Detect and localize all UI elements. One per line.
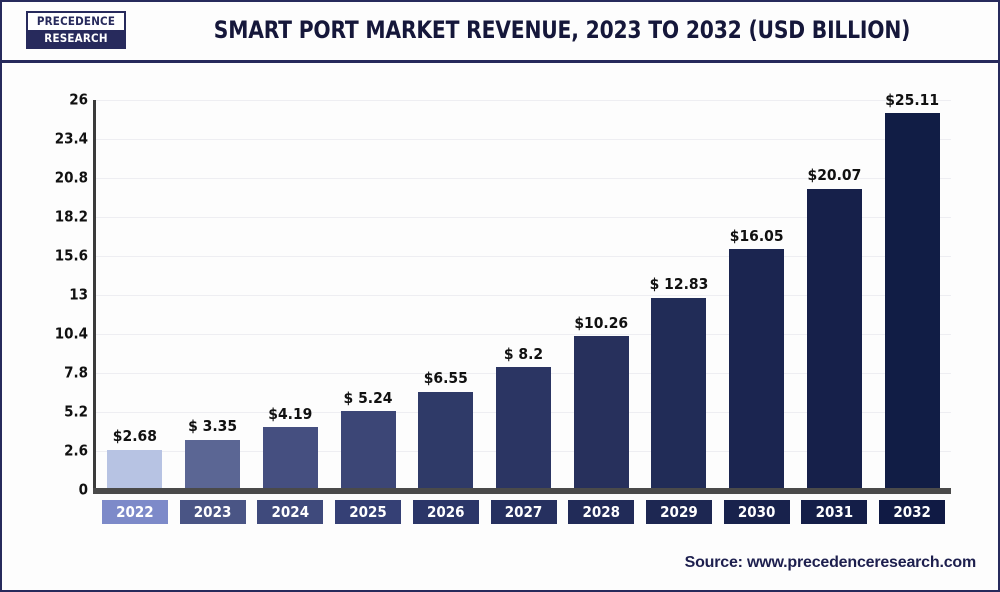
gridline xyxy=(96,139,951,140)
bars-canvas: $2.68$ 3.35$4.19$ 5.24$6.55$ 8.2$10.26$ … xyxy=(96,100,951,490)
bar-value-label: $ 8.2 xyxy=(504,347,543,363)
logo-line-research: RESEARCH xyxy=(28,30,124,47)
bar-2023[interactable]: $ 3.35 xyxy=(185,440,240,490)
bar-2027[interactable]: $ 8.2 xyxy=(496,367,551,490)
y-axis-tick-label: 26 xyxy=(30,93,88,108)
bar-value-label: $25.11 xyxy=(885,93,939,109)
bar-value-label: $ 3.35 xyxy=(188,419,237,435)
gridline xyxy=(96,100,951,101)
bar-value-label: $10.26 xyxy=(574,316,628,332)
x-axis-chip-2028[interactable]: 2028 xyxy=(568,500,634,524)
bar-value-label: $6.55 xyxy=(424,371,468,387)
bar-value-label: $ 5.24 xyxy=(344,391,393,407)
y-axis-tick-label: 15.6 xyxy=(30,249,88,264)
source-attribution: Source: www.precedenceresearch.com xyxy=(685,554,976,572)
x-axis-chip-2027[interactable]: 2027 xyxy=(491,500,557,524)
bar-value-label: $20.07 xyxy=(808,168,862,184)
x-axis-chip-2031[interactable]: 2031 xyxy=(801,500,867,524)
bar-2029[interactable]: $ 12.83 xyxy=(651,298,706,490)
bar-value-label: $ 12.83 xyxy=(650,277,709,293)
bar-value-label: $4.19 xyxy=(268,407,312,423)
y-axis-tick-label: 18.2 xyxy=(30,210,88,225)
bar-2028[interactable]: $10.26 xyxy=(574,336,629,490)
y-axis-tick-label: 13 xyxy=(30,288,88,303)
y-axis-tick-label: 2.6 xyxy=(30,444,88,459)
page-title: SMART PORT MARKET REVENUE, 2023 TO 2032 … xyxy=(177,2,948,57)
y-axis-tick-label: 10.4 xyxy=(30,327,88,342)
bar-value-label: $2.68 xyxy=(113,429,157,445)
x-axis-category-chips: 2022202320242025202620272028202920302031… xyxy=(96,500,951,530)
bar-2032[interactable]: $25.11 xyxy=(885,113,940,490)
logo-line-precedence: PRECEDENCE xyxy=(28,13,124,30)
x-axis-chip-2026[interactable]: 2026 xyxy=(413,500,479,524)
bar-2022[interactable]: $2.68 xyxy=(107,450,162,490)
x-axis-chip-2023[interactable]: 2023 xyxy=(180,500,246,524)
chart-page: PRECEDENCE RESEARCH SMART PORT MARKET RE… xyxy=(0,0,1000,592)
bar-2025[interactable]: $ 5.24 xyxy=(341,411,396,490)
bar-2024[interactable]: $4.19 xyxy=(263,427,318,490)
bar-2026[interactable]: $6.55 xyxy=(418,392,473,490)
x-axis-chip-2022[interactable]: 2022 xyxy=(102,500,168,524)
x-axis-chip-2030[interactable]: 2030 xyxy=(724,500,790,524)
y-axis-tick-label: 20.8 xyxy=(30,171,88,186)
x-axis-chip-2024[interactable]: 2024 xyxy=(257,500,323,524)
x-axis-baseline xyxy=(93,488,951,494)
y-axis-tick-label: 5.2 xyxy=(30,405,88,420)
x-axis-chip-2029[interactable]: 2029 xyxy=(646,500,712,524)
y-axis-tick-label: 7.8 xyxy=(30,366,88,381)
x-axis-chip-2032[interactable]: 2032 xyxy=(879,500,945,524)
precedence-research-logo: PRECEDENCE RESEARCH xyxy=(26,11,126,49)
y-axis-tick-labels: 02.65.27.810.41315.618.220.823.426 xyxy=(30,60,88,490)
bar-2030[interactable]: $16.05 xyxy=(729,249,784,490)
bar-2031[interactable]: $20.07 xyxy=(807,189,862,490)
x-axis-chip-2025[interactable]: 2025 xyxy=(335,500,401,524)
chart-plot-area: 02.65.27.810.41315.618.220.823.426 $2.68… xyxy=(2,60,998,540)
y-axis-tick-label: 0 xyxy=(30,483,88,498)
bar-value-label: $16.05 xyxy=(730,229,784,245)
y-axis-tick-label: 23.4 xyxy=(30,132,88,147)
chart-header: PRECEDENCE RESEARCH SMART PORT MARKET RE… xyxy=(2,2,998,63)
